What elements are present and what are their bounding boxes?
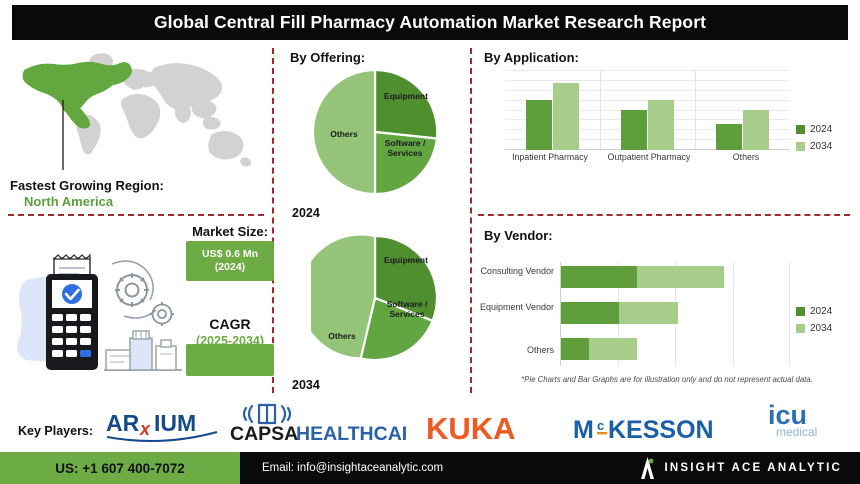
market-size-value: US$ 0.6 Mn: [202, 248, 258, 261]
page-title: Global Central Fill Pharmacy Automation …: [154, 12, 706, 33]
insight-ace-a-mark-icon: [640, 457, 655, 479]
footer-brand-text: INSIGHT ACE ANALYTIC: [664, 462, 842, 474]
svg-text:medical: medical: [776, 425, 817, 439]
logo-arxium: AR x IUM: [104, 406, 219, 442]
vendor-chart-legend: 2024 2034: [796, 306, 832, 340]
svg-text:KUKA: KUKA: [426, 411, 516, 444]
footer-brand: INSIGHT ACE ANALYTIC: [640, 457, 842, 479]
vendor-bar-equipment-2034: [619, 302, 679, 324]
vendor-bar-row-consulting: [561, 266, 791, 288]
divider-horizontal-right: [478, 214, 850, 216]
vendor-bar-others-2024: [561, 338, 589, 360]
application-bar-outpatient-2034: [648, 100, 674, 150]
application-bar-others-2024: [716, 124, 742, 150]
vendor-category-others: Others: [476, 345, 554, 356]
application-category-outpatient: Outpatient Pharmacy: [605, 152, 693, 163]
application-bar-inpatient-2034: [553, 83, 579, 150]
section-heading-by-vendor: By Vendor:: [484, 228, 553, 243]
vendor-bar-others-2034: [589, 338, 637, 360]
footer-phone[interactable]: US: +1 607 400-7072: [55, 461, 184, 476]
vendor-legend-label-2034: 2034: [810, 323, 832, 334]
legend-label-2034: 2034: [810, 141, 832, 152]
page-footer: US: +1 607 400-7072 Email: info@insighta…: [0, 452, 860, 484]
market-size-value-box: US$ 0.6 Mn (2024): [186, 241, 274, 281]
logo-capsa-healthcare: CAPSA HEALTHCARE: [228, 402, 406, 444]
cagr-label: CAGR: [180, 316, 280, 332]
pie-chart-2024: [311, 68, 439, 196]
application-bar-inpatient-2024: [526, 100, 552, 150]
application-bar-outpatient-2024: [621, 110, 647, 150]
vendor-bar-chart: [560, 262, 790, 366]
infographic-root: Global Central Fill Pharmacy Automation …: [0, 0, 860, 484]
application-bar-chart: [505, 70, 790, 150]
vendor-legend-swatch-2034-icon: [796, 324, 805, 333]
market-size-label: Market Size:: [180, 224, 280, 239]
application-bar-others-2034: [743, 110, 769, 150]
vendor-bar-consulting-2034: [637, 266, 724, 288]
application-bar-group-others: [695, 70, 790, 150]
vendor-category-consulting: Consulting Vendor: [476, 266, 554, 277]
svg-text:AR: AR: [106, 410, 140, 436]
key-players-label: Key Players:: [18, 424, 93, 438]
vendor-bar-row-others: [561, 338, 791, 360]
pie-chart-2034: [311, 234, 439, 362]
legend-swatch-2024-icon: [796, 125, 805, 134]
svg-text:IUM: IUM: [154, 410, 196, 436]
logo-mckesson: M c KESSON: [572, 412, 747, 444]
svg-text:CAPSA: CAPSA: [230, 423, 298, 444]
vendor-legend-swatch-2024-icon: [796, 307, 805, 316]
svg-text:HEALTHCARE: HEALTHCARE: [296, 423, 406, 444]
application-category-inpatient: Inpatient Pharmacy: [500, 152, 600, 163]
legend-item-2024: 2024: [796, 124, 832, 135]
legend-item-2034: 2034: [796, 141, 832, 152]
charts-disclaimer-footnote: *Pie Charts and Bar Graphs are for illus…: [482, 375, 852, 384]
pie-2034-year: 2034: [292, 378, 320, 392]
vendor-legend-item-2034: 2034: [796, 323, 832, 334]
pharmacy-automation-illustration-icon: [6, 252, 182, 384]
svg-text:KESSON: KESSON: [608, 416, 714, 444]
divider-vertical-right: [470, 48, 472, 393]
application-category-others: Others: [700, 152, 792, 163]
logo-kuka: KUKA: [424, 410, 559, 444]
vendor-bar-row-equipment: [561, 302, 791, 324]
svg-text:M: M: [573, 416, 594, 444]
section-heading-by-offering: By Offering:: [290, 50, 365, 65]
section-heading-by-application: By Application:: [484, 50, 579, 65]
application-bar-group-inpatient: [505, 70, 600, 150]
report-title-bar: Global Central Fill Pharmacy Automation …: [12, 5, 848, 40]
fastest-growing-region-value: North America: [24, 194, 264, 209]
logo-icu-medical: icu medical: [766, 398, 844, 442]
application-bar-group-outpatient: [600, 70, 695, 150]
market-size-year: (2024): [215, 261, 245, 274]
fastest-growing-region-label: Fastest Growing Region:: [10, 178, 260, 193]
svg-text:x: x: [139, 419, 151, 439]
svg-text:c: c: [597, 418, 604, 433]
vendor-category-equipment: Equipment Vendor: [476, 302, 554, 313]
vendor-legend-label-2024: 2024: [810, 306, 832, 317]
vendor-bar-equipment-2024: [561, 302, 619, 324]
legend-label-2024: 2024: [810, 124, 832, 135]
footer-phone-block: US: +1 607 400-7072: [0, 452, 240, 484]
cagr-value-box: [186, 344, 274, 376]
world-map-icon: [8, 48, 266, 173]
pie-2024-year: 2024: [292, 206, 320, 220]
footer-contact-block: Email: info@insightaceanalytic.com INSIG…: [240, 452, 860, 484]
vendor-legend-item-2024: 2024: [796, 306, 832, 317]
divider-horizontal-left: [8, 214, 264, 216]
legend-swatch-2034-icon: [796, 142, 805, 151]
footer-email[interactable]: Email: info@insightaceanalytic.com: [262, 462, 443, 474]
application-chart-legend: 2024 2034: [796, 124, 832, 158]
vendor-bar-consulting-2024: [561, 266, 637, 288]
